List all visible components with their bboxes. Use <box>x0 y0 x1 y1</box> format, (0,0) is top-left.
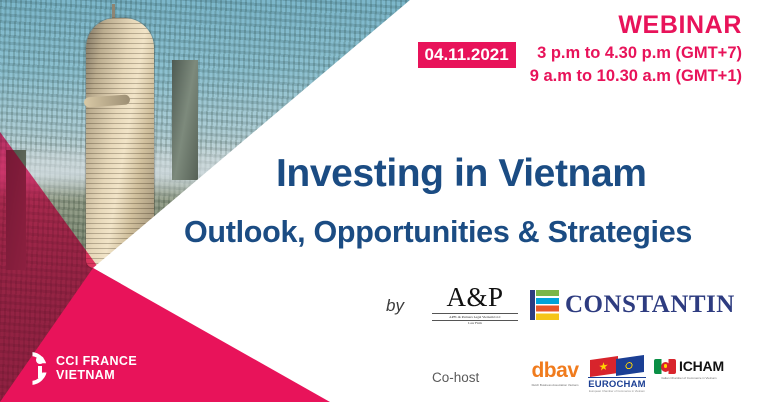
italy-flag-icon <box>654 359 676 374</box>
cci-logo-text: CCI FRANCE VIETNAM <box>56 355 137 382</box>
ap-logo-name: A&P <box>432 283 518 312</box>
icham-wordmark: ICHAM <box>679 359 724 374</box>
eurocham-subtitle: European Chamber of Commerce in Vietnam <box>588 390 646 394</box>
dbav-subtitle: Dutch Business Association Vietnam <box>524 383 586 387</box>
ap-logo-subtitle: APFL & Partners Legal Vietnam LLC <box>432 313 518 321</box>
icham-logo: ICHAM Italian Chamber of Commerce in Vie… <box>650 359 728 380</box>
cci-logo-line-2: VIETNAM <box>56 369 137 383</box>
ap-logo-subtitle-2: Law Firm <box>432 321 518 326</box>
building-right <box>172 60 198 180</box>
hero-artwork <box>0 0 410 402</box>
time-line-gmt7: 3 p.m to 4.30 p.m (GMT+7) <box>530 42 742 65</box>
page-title: Investing in Vietnam <box>276 152 647 196</box>
header-block: WEBINAR 04.11.2021 3 p.m to 4.30 p.m (GM… <box>418 10 742 88</box>
cci-i-shape <box>38 366 42 378</box>
page-subtitle: Outlook, Opportunities & Strategies <box>184 214 692 250</box>
constantin-mark-icon <box>530 290 559 320</box>
time-block: 3 p.m to 4.30 p.m (GMT+7) 9 a.m to 10.30… <box>530 42 742 88</box>
eurocham-logo: EUROCHAM European Chamber of Commerce in… <box>588 357 646 394</box>
constantin-blue-bar <box>530 290 535 320</box>
eurocham-flags-icon <box>588 357 646 377</box>
by-label: by <box>386 296 404 316</box>
time-line-gmt1: 9 a.m to 10.30 a.m (GMT+1) <box>530 65 742 88</box>
constantin-wordmark: CONSTANTIN <box>565 292 735 318</box>
cohost-label: Co-host <box>432 370 479 385</box>
icham-subtitle: Italian Chamber of Commerce in Vietnam <box>650 376 728 380</box>
ap-law-firm-logo: A&P APFL & Partners Legal Vietnam LLC La… <box>432 283 518 325</box>
eu-flag-icon <box>616 355 644 376</box>
vietnam-flag-icon <box>590 356 618 377</box>
icham-logo-row: ICHAM <box>650 359 728 374</box>
constantin-logo: CONSTANTIN <box>530 290 735 320</box>
cci-dot-shape <box>36 356 44 364</box>
webinar-label: WEBINAR <box>418 10 742 40</box>
dbav-logo: dbav Dutch Business Association Vietnam <box>524 360 586 387</box>
constantin-color-stripes <box>536 290 559 320</box>
cci-monogram-icon <box>14 352 47 385</box>
cci-france-vietnam-logo: CCI FRANCE VIETNAM <box>14 352 137 385</box>
date-badge: 04.11.2021 <box>418 42 516 68</box>
webinar-banner: CCI FRANCE VIETNAM WEBINAR 04.11.2021 3 … <box>0 0 768 402</box>
date-time-row: 04.11.2021 3 p.m to 4.30 p.m (GMT+7) 9 a… <box>418 42 742 88</box>
cci-logo-line-1: CCI FRANCE <box>56 355 137 369</box>
dbav-wordmark: dbav <box>524 360 586 382</box>
